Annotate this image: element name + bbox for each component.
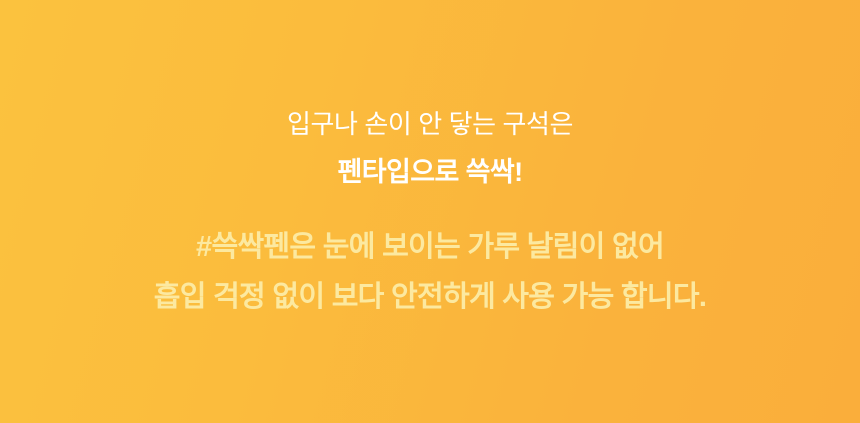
body-text-block: #쓱싹펜은 눈에 보이는 가루 날림이 없어 흡입 걱정 없이 보다 안전하게 …: [0, 233, 860, 312]
body-line-1-hashtag: #쓱싹펜은 눈에 보이는 가루 날림이 없어: [0, 233, 860, 262]
headline-line-1: 입구나 손이 안 닿는 구석은: [0, 111, 860, 137]
headline-block: 입구나 손이 안 닿는 구석은 펜타입으로 쓱싹!: [0, 111, 860, 186]
headline-line-2: 펜타입으로 쓱싹!: [0, 159, 860, 186]
body-line-2: 흡입 걱정 없이 보다 안전하게 사용 가능 합니다.: [0, 283, 860, 312]
promo-banner: 입구나 손이 안 닿는 구석은 펜타입으로 쓱싹! #쓱싹펜은 눈에 보이는 가…: [0, 0, 860, 423]
